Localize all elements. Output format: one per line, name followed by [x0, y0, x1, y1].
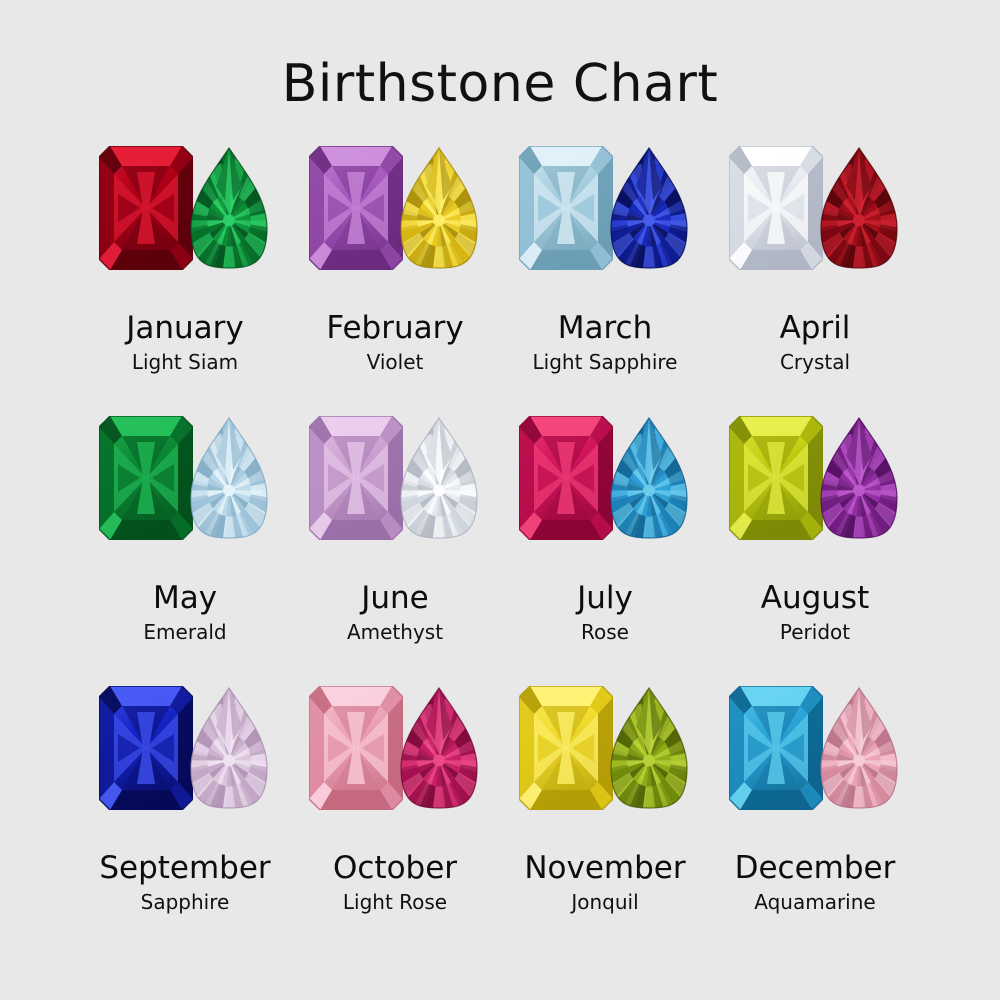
gem-pair — [500, 142, 710, 274]
gem-pair — [710, 412, 920, 544]
month-cell-december: DecemberAquamarine — [710, 682, 920, 952]
month-name: October — [333, 852, 457, 885]
yellow-pear-cut-gem — [397, 146, 481, 270]
crystal-emerald-cut-gem — [729, 146, 823, 270]
month-name: March — [558, 312, 653, 345]
month-cell-april: AprilCrystal — [710, 142, 920, 412]
light-amethyst-pear-cut-gem — [187, 686, 271, 810]
yellow-pear-cut-gem — [397, 146, 481, 270]
peridot-emerald-cut-gem — [729, 416, 823, 540]
gem-pair — [290, 412, 500, 544]
stone-name: Violet — [367, 352, 424, 373]
amethyst-emerald-cut-gem — [309, 416, 403, 540]
stone-name: Rose — [581, 622, 629, 643]
light-siam-emerald-cut-gem — [99, 146, 193, 270]
month-name: August — [761, 582, 870, 615]
gem-pair — [80, 142, 290, 274]
stone-name: Amethyst — [347, 622, 443, 643]
gem-pair — [500, 682, 710, 814]
clear-white-pear-cut-gem — [397, 416, 481, 540]
violet-emerald-cut-gem — [309, 146, 403, 270]
dark-red-pear-cut-gem — [817, 146, 901, 270]
light-rose-emerald-cut-gem — [309, 686, 403, 810]
light-sapphire-emerald-cut-gem — [519, 146, 613, 270]
stone-name: Light Siam — [132, 352, 238, 373]
violet-emerald-cut-gem — [309, 146, 403, 270]
gem-pair — [500, 412, 710, 544]
stone-name: Light Sapphire — [533, 352, 678, 373]
month-name: July — [577, 582, 633, 615]
month-name: November — [524, 852, 685, 885]
month-cell-july: JulyRose — [500, 412, 710, 682]
gem-pair — [290, 682, 500, 814]
birthstone-chart-page: Birthstone Chart — [0, 0, 1000, 1000]
month-cell-march: MarchLight Sapphire — [500, 142, 710, 412]
emerald-emerald-cut-gem — [99, 416, 193, 540]
stone-name: Jonquil — [571, 892, 638, 913]
month-cell-january: JanuaryLight Siam — [80, 142, 290, 412]
gem-pair — [710, 682, 920, 814]
gem-pair — [290, 142, 500, 274]
light-blue-pear-cut-gem — [187, 416, 271, 540]
dark-red-pear-cut-gem — [817, 146, 901, 270]
month-cell-september: SeptemberSapphire — [80, 682, 290, 952]
light-blue-pear-cut-gem — [187, 416, 271, 540]
month-cell-february: FebruaryViolet — [290, 142, 500, 412]
month-cell-june: JuneAmethyst — [290, 412, 500, 682]
olive-green-pear-cut-gem — [607, 686, 691, 810]
crystal-emerald-cut-gem — [729, 146, 823, 270]
stone-name: Peridot — [780, 622, 850, 643]
aqua-blue-pear-cut-gem — [607, 416, 691, 540]
stone-name: Emerald — [143, 622, 226, 643]
month-name: December — [735, 852, 896, 885]
stone-name: Sapphire — [141, 892, 230, 913]
month-cell-november: NovemberJonquil — [500, 682, 710, 952]
deep-rose-pear-cut-gem — [397, 686, 481, 810]
gem-pair — [80, 682, 290, 814]
month-name: May — [153, 582, 217, 615]
deep-rose-pear-cut-gem — [397, 686, 481, 810]
stone-name: Aquamarine — [754, 892, 875, 913]
amethyst-emerald-cut-gem — [309, 416, 403, 540]
sapphire-emerald-cut-gem — [99, 686, 193, 810]
green-pear-cut-gem — [187, 146, 271, 270]
month-name: January — [126, 312, 244, 345]
gem-pair — [80, 412, 290, 544]
page-title: Birthstone Chart — [0, 0, 1000, 110]
aqua-blue-pear-cut-gem — [607, 416, 691, 540]
month-cell-august: AugustPeridot — [710, 412, 920, 682]
month-name: June — [361, 582, 429, 615]
purple-pear-cut-gem — [817, 416, 901, 540]
month-grid: JanuaryLight Siam — [80, 142, 920, 952]
light-pink-pear-cut-gem — [817, 686, 901, 810]
light-amethyst-pear-cut-gem — [187, 686, 271, 810]
purple-pear-cut-gem — [817, 416, 901, 540]
royal-blue-pear-cut-gem — [607, 146, 691, 270]
emerald-emerald-cut-gem — [99, 416, 193, 540]
royal-blue-pear-cut-gem — [607, 146, 691, 270]
month-name: September — [99, 852, 270, 885]
month-cell-october: OctoberLight Rose — [290, 682, 500, 952]
green-pear-cut-gem — [187, 146, 271, 270]
light-pink-pear-cut-gem — [817, 686, 901, 810]
light-sapphire-emerald-cut-gem — [519, 146, 613, 270]
olive-green-pear-cut-gem — [607, 686, 691, 810]
jonquil-emerald-cut-gem — [519, 686, 613, 810]
gem-pair — [710, 142, 920, 274]
aquamarine-emerald-cut-gem — [729, 686, 823, 810]
aquamarine-emerald-cut-gem — [729, 686, 823, 810]
jonquil-emerald-cut-gem — [519, 686, 613, 810]
rose-emerald-cut-gem — [519, 416, 613, 540]
light-rose-emerald-cut-gem — [309, 686, 403, 810]
light-siam-emerald-cut-gem — [99, 146, 193, 270]
sapphire-emerald-cut-gem — [99, 686, 193, 810]
month-cell-may: MayEmerald — [80, 412, 290, 682]
month-name: April — [780, 312, 851, 345]
stone-name: Crystal — [780, 352, 850, 373]
rose-emerald-cut-gem — [519, 416, 613, 540]
stone-name: Light Rose — [343, 892, 447, 913]
clear-white-pear-cut-gem — [397, 416, 481, 540]
month-name: February — [326, 312, 463, 345]
peridot-emerald-cut-gem — [729, 416, 823, 540]
